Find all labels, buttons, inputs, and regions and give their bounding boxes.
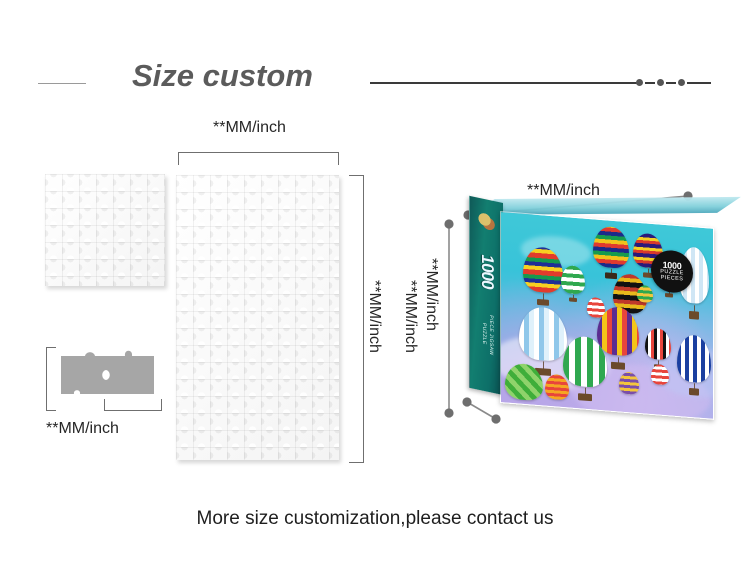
header-dot-3 — [678, 79, 685, 86]
blank-puzzle-rectangle — [176, 175, 339, 460]
header-dash-2 — [666, 82, 676, 84]
header-left-rule — [38, 83, 86, 84]
header-right-rule — [370, 82, 638, 84]
page-title: Size custom — [132, 58, 313, 94]
spine-piece-count: 1000 — [477, 239, 497, 303]
label-puzzle-width: **MM/inch — [213, 119, 286, 137]
bracket-puzzle-height — [349, 175, 364, 463]
brand-logo-icon — [477, 211, 496, 231]
header-dash-1 — [645, 82, 655, 84]
label-puzzle-height-outer: **MM/inch — [401, 280, 419, 353]
page-root: Size custom **MM/inch **MM/inch **MM/inc… — [0, 0, 750, 563]
two-interlocking-pieces — [58, 340, 168, 408]
box-artwork: 1000 PUZZLE PIECES — [501, 212, 713, 419]
label-box-height: **MM/inch — [422, 258, 440, 331]
bracket-piece-height — [46, 347, 56, 411]
header-dot-1 — [636, 79, 643, 86]
label-puzzle-height-inner: **MM/inch — [365, 280, 383, 353]
bracket-puzzle-width — [178, 152, 339, 165]
blank-puzzle-square — [45, 174, 165, 286]
bracket-piece-width — [104, 399, 162, 411]
spine-subtitle: PIECE JIGSAW PUZZLE — [480, 302, 494, 367]
box-front-face: 1000 PUZZLE PIECES — [500, 211, 714, 420]
header-dash-3 — [687, 82, 711, 84]
header-dot-2 — [657, 79, 664, 86]
badge-line-3: PIECES — [661, 275, 684, 283]
header-banner: Size custom — [0, 28, 750, 74]
label-piece-size: **MM/inch — [46, 420, 119, 438]
footer-contact-text: More size customization,please contact u… — [0, 508, 750, 530]
product-box: 1000 PIECE JIGSAW PUZZLE — [466, 197, 716, 412]
box-spine: 1000 PIECE JIGSAW PUZZLE — [469, 196, 503, 395]
